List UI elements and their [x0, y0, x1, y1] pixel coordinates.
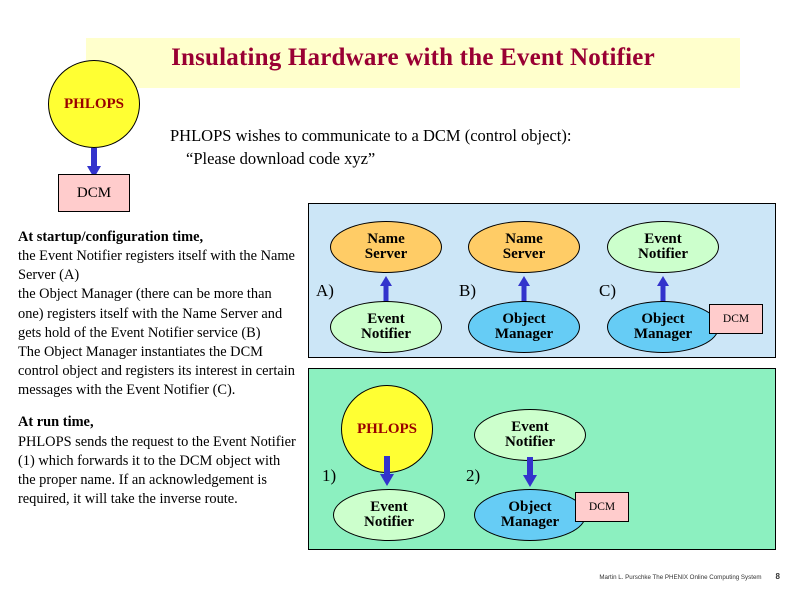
node-line-1: Event [511, 420, 549, 435]
step-label-b: B) [459, 281, 476, 301]
dcm-box-top: DCM [58, 174, 130, 212]
page-number: 8 [776, 572, 780, 581]
node-line-2: Notifier [361, 327, 411, 342]
node-line-2: Notifier [505, 435, 555, 450]
node-line-2: Manager [501, 515, 559, 530]
arrow-b-up [514, 276, 534, 302]
arrow-a-up [376, 276, 396, 302]
node-line-2: Server [503, 247, 545, 262]
node-event-notifier-a: Event Notifier [330, 301, 442, 353]
node-event-notifier-1: Event Notifier [333, 489, 445, 541]
page-title: Insulating Hardware with the Event Notif… [86, 44, 740, 72]
step-label-c: C) [599, 281, 616, 301]
intro-text-block: PHLOPS wishes to communicate to a DCM (c… [170, 124, 600, 171]
intro-line-1: PHLOPS wishes to communicate to a DCM (c… [170, 124, 600, 147]
node-line-1: Name [505, 232, 543, 247]
node-line-1: Object [508, 500, 551, 515]
body-text-block: At startup/configuration time, the Event… [18, 228, 300, 509]
phlops-circle-top: PHLOPS [48, 60, 140, 148]
step-label-a: A) [316, 281, 334, 301]
body-para-4: PHLOPS sends the request to the Event No… [18, 433, 300, 510]
body-para-2: the Object Manager (there can be more th… [18, 285, 300, 342]
node-line-2: Notifier [364, 515, 414, 530]
node-line-2: Manager [634, 327, 692, 342]
node-event-notifier-c: Event Notifier [607, 221, 719, 273]
slide-canvas: Insulating Hardware with the Event Notif… [0, 0, 800, 600]
node-line-1: Object [641, 312, 684, 327]
node-line-1: Object [502, 312, 545, 327]
node-line-1: Event [370, 500, 408, 515]
body-para-1: the Event Notifier registers itself with… [18, 247, 300, 285]
arrow-c-up [653, 276, 673, 302]
body-heading-startup: At startup/configuration time, [18, 228, 300, 247]
body-para-3: The Object Manager instantiates the DCM … [18, 343, 300, 400]
body-heading-runtime: At run time, [18, 413, 300, 432]
dcm-tag-c: DCM [709, 304, 763, 334]
step-label-1: 1) [322, 466, 336, 486]
footer-credit: Martin L. Purschke The PHENIX Online Com… [599, 574, 761, 581]
node-line-2: Notifier [638, 247, 688, 262]
node-line-2: Server [365, 247, 407, 262]
node-name-server-b: Name Server [468, 221, 580, 273]
node-event-notifier-2: Event Notifier [474, 409, 586, 461]
intro-line-2: “Please download code xyz” [170, 147, 600, 170]
node-line-2: Manager [495, 327, 553, 342]
node-name-server-a: Name Server [330, 221, 442, 273]
phlops-label: PHLOPS [64, 96, 124, 113]
node-object-manager-c: Object Manager [607, 301, 719, 353]
node-line-1: PHLOPS [357, 421, 417, 438]
slide-footer: Martin L. Purschke The PHENIX Online Com… [520, 572, 780, 581]
body-spacer [18, 400, 300, 413]
dcm-tag-2: DCM [575, 492, 629, 522]
node-line-1: Event [644, 232, 682, 247]
node-object-manager-2: Object Manager [474, 489, 586, 541]
node-object-manager-b: Object Manager [468, 301, 580, 353]
arrow-2-down [520, 457, 540, 487]
node-line-1: Event [367, 312, 405, 327]
node-line-1: Name [367, 232, 405, 247]
dcm-label: DCM [77, 185, 111, 202]
step-label-2: 2) [466, 466, 480, 486]
arrow-1-down [377, 456, 397, 486]
